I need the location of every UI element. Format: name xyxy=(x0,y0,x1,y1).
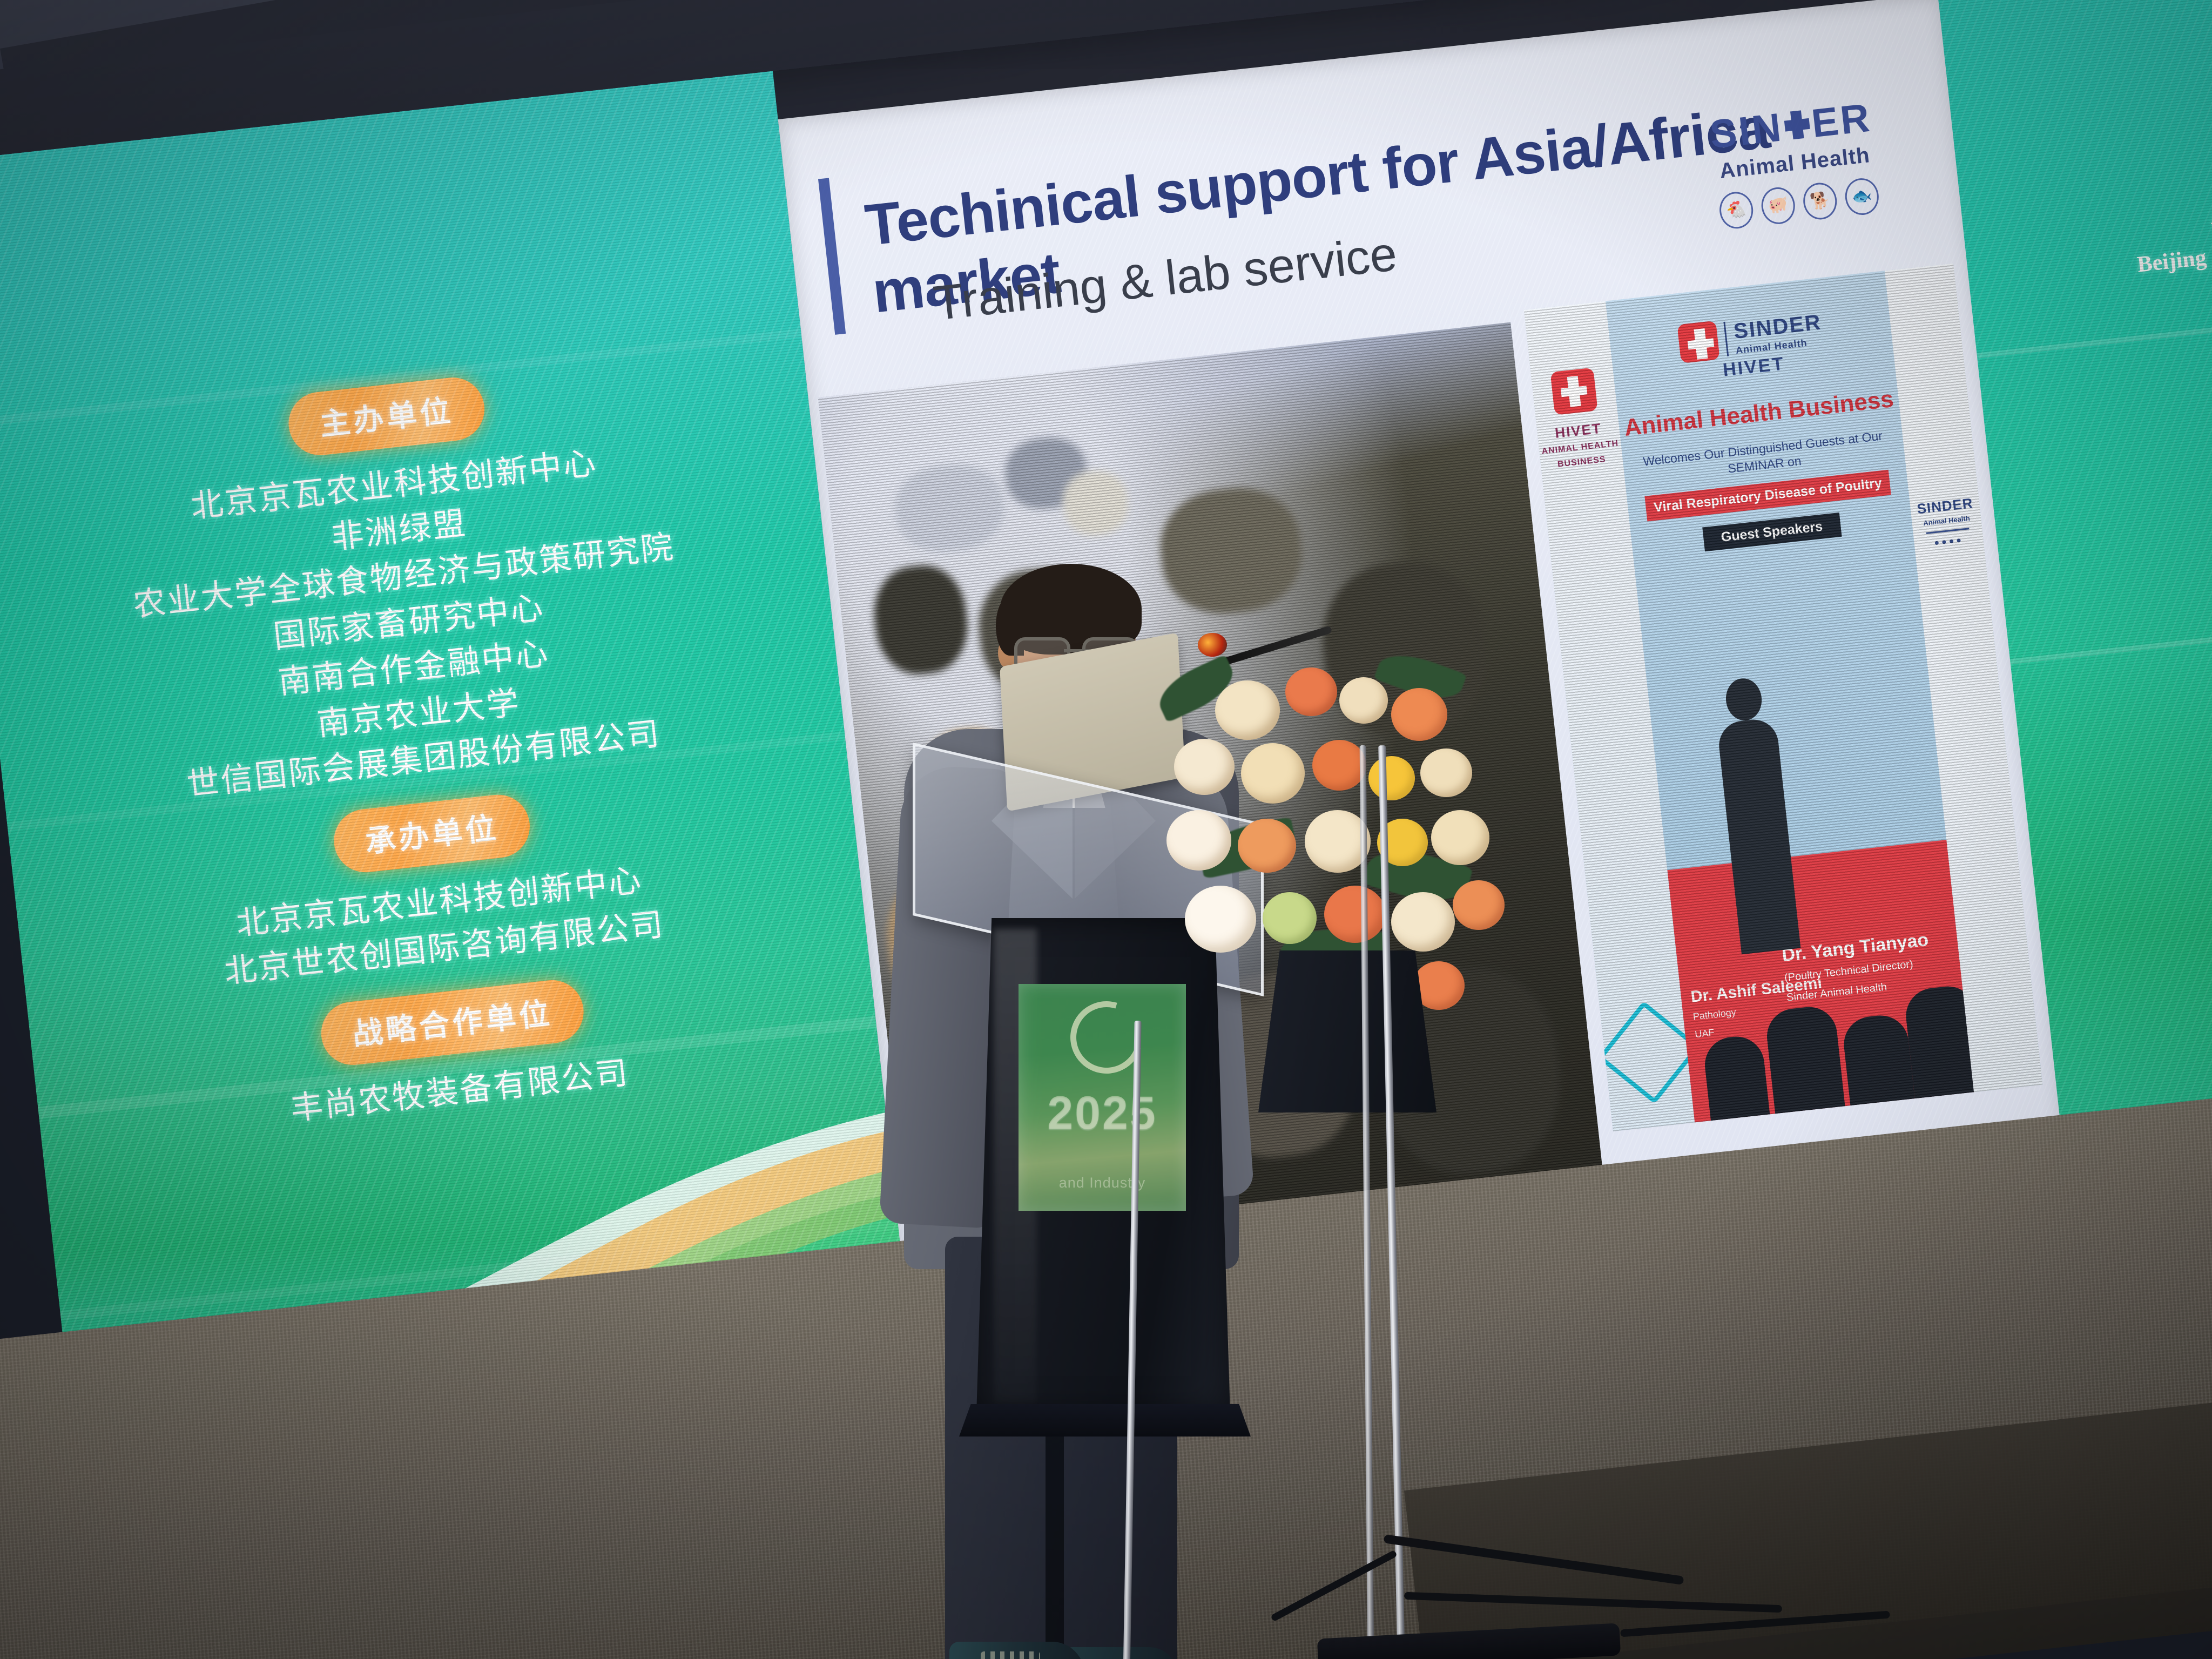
banner-red-block xyxy=(1667,840,1974,1122)
sinder-logo: SIN ER Animal Health 🐔 🐖 🐕 🐟 xyxy=(1662,92,1927,235)
sponsor-line-en: Academy of Gl xyxy=(1932,258,2212,349)
seminar-main-banner: SINDER Animal Health HIVET Animal Health… xyxy=(1606,271,1974,1122)
audience-silhouettes xyxy=(1681,969,1974,1123)
led-seam xyxy=(7,731,846,831)
sponsor-line-en: AGRA (Sustainab xyxy=(1932,179,2212,271)
sponsor-line: 丰尚农牧装备有限公司 xyxy=(38,1022,881,1159)
sinder-name-part2: ER xyxy=(1810,98,1873,144)
flower-stand xyxy=(1258,950,1437,1112)
stage-photo-scene: 主办单位 北京京瓦农业科技创新中心 非洲绿盟 农业大学全球食物经济与政策研究院 … xyxy=(0,0,2212,1659)
sponsor-line: 北京京瓦农业科技创新中心 xyxy=(18,834,860,970)
speaker-1-role3: (China) xyxy=(1788,993,1951,1025)
badge-strategic: 战略合作单位 xyxy=(318,977,587,1068)
slide-photo-seminar-banner: HIVET ANIMAL HEALTH BUSINESS SINDER Anim… xyxy=(1524,263,2043,1131)
slide-title: Techinical support for Asia/Africa marke… xyxy=(862,92,1789,326)
pig-icon: 🐖 xyxy=(1759,186,1797,226)
speaker-1-role2: Sinder Animal Health xyxy=(1786,973,1948,1005)
sponsor-line: 农业大学全球食物经济与政策研究院 xyxy=(0,508,825,644)
sponsor-group-host: 承办单位 北京京瓦农业科技创新中心 北京世农创国际咨询有限公司 xyxy=(10,757,866,1016)
strip-divider xyxy=(1926,528,1970,534)
sponsor-line: 北京京瓦农业科技创新中心 xyxy=(0,416,815,553)
led-sponsor-list: 主办单位 北京京瓦农业科技创新中心 非洲绿盟 农业大学全球食物经济与政策研究院 … xyxy=(0,340,884,1179)
sponsor-line: 北京世农创国际咨询有限公司 xyxy=(23,879,866,1016)
strip-sinder-name: SINDER xyxy=(1916,495,1974,517)
medical-cross-icon xyxy=(1783,109,1811,143)
sponsor-line: 国际家畜研究中心 xyxy=(0,554,830,690)
hivet-side-banner: HIVET ANIMAL HEALTH BUSINESS xyxy=(1524,301,1702,1131)
title-accent-bar xyxy=(818,178,846,334)
strip-sinder-tagline: Animal Health xyxy=(1923,514,1971,527)
speaker-1-role1: (Poultry Technical Director) xyxy=(1784,954,1946,986)
sponsor-line: 南京农业大学 xyxy=(0,645,840,781)
sponsor-group-strategic: 战略合作单位 丰尚农牧装备有限公司 xyxy=(30,946,881,1159)
sponsor-group-organizer: 主办单位 北京京瓦农业科技创新中心 非洲绿盟 农业大学全球食物经济与政策研究院 … xyxy=(0,340,845,827)
sponsor-line: 世信国际会展集团股份有限公司 xyxy=(3,691,845,827)
slide-subtitle: Training & lab service xyxy=(931,189,1742,332)
strip-species-icons: ●●●● xyxy=(1934,536,1964,549)
sinder-tagline: Animal Health xyxy=(1667,138,1922,189)
diamond-decor-icon xyxy=(1597,1001,1701,1104)
hivet-logo-icon xyxy=(1550,368,1598,415)
banner-headline: Animal Health Business xyxy=(1618,385,1900,442)
banner-sinder-name: SINDER xyxy=(1732,311,1823,343)
poultry-icon: 🐔 xyxy=(1718,190,1755,230)
sponsor-line-en: Beijing Jingwa Agricultur xyxy=(1932,218,2212,310)
fish-icon: 🐟 xyxy=(1843,177,1880,217)
banner-sinder-logo: SINDER Animal Health xyxy=(1732,312,1824,355)
banner-guest-label: Guest Speakers xyxy=(1702,512,1842,551)
banner-welcome-text: Welcomes Our Distinguished Guests at Our… xyxy=(1622,426,1905,489)
hivet-side-line1: ANIMAL HEALTH xyxy=(1541,438,1619,457)
led-seam xyxy=(0,329,801,428)
banner-speaker-1: Dr. Yang Tianyao (Poultry Technical Dire… xyxy=(1781,928,1951,1026)
banner-speaker-2: Dr. Ashif Saleemi Pathology UAF xyxy=(1690,974,1830,1041)
flower-arrangement xyxy=(1150,648,1518,1091)
led-seam xyxy=(38,1016,876,1118)
badge-organizer: 主办单位 xyxy=(286,374,488,458)
banner-logo-row: SINDER Animal Health xyxy=(1609,302,1892,371)
sponsor-line: 非洲绿盟 xyxy=(0,462,820,598)
plaque-year: 2025 xyxy=(1019,1087,1186,1140)
banner-topic: Viral Respiratory Disease of Poultry xyxy=(1644,470,1891,522)
banner-sinder-tagline: Animal Health xyxy=(1735,336,1824,355)
sinder-species-icons: 🐔 🐖 🐕 🐟 xyxy=(1671,172,1927,235)
sponsor-line: 南南合作金融中心 xyxy=(0,599,835,736)
speaker-2-role1: Pathology xyxy=(1692,996,1828,1023)
speaker-2-name: Dr. Ashif Saleemi xyxy=(1690,974,1826,1006)
speaker-1-name: Dr. Yang Tianyao xyxy=(1781,928,1944,966)
logo-divider xyxy=(1723,322,1729,356)
banner-hivet-label: HIVET xyxy=(1613,342,1894,393)
hivet-side-title: HIVET xyxy=(1554,420,1602,442)
plaque-caption: and Industry xyxy=(1019,1175,1186,1191)
lectern-base xyxy=(959,1404,1251,1437)
dog-icon: 🐕 xyxy=(1802,181,1839,221)
hivet-side-line2: BUSINESS xyxy=(1557,454,1607,470)
badge-host: 承办单位 xyxy=(331,792,533,876)
sinder-wordmark: SIN ER xyxy=(1662,92,1919,159)
podium-silhouette xyxy=(1717,717,1801,954)
hivet-logo-icon xyxy=(1677,321,1719,363)
sinder-name-part1: SIN xyxy=(1708,107,1785,154)
speaker-2-role2: UAF xyxy=(1694,1013,1830,1041)
